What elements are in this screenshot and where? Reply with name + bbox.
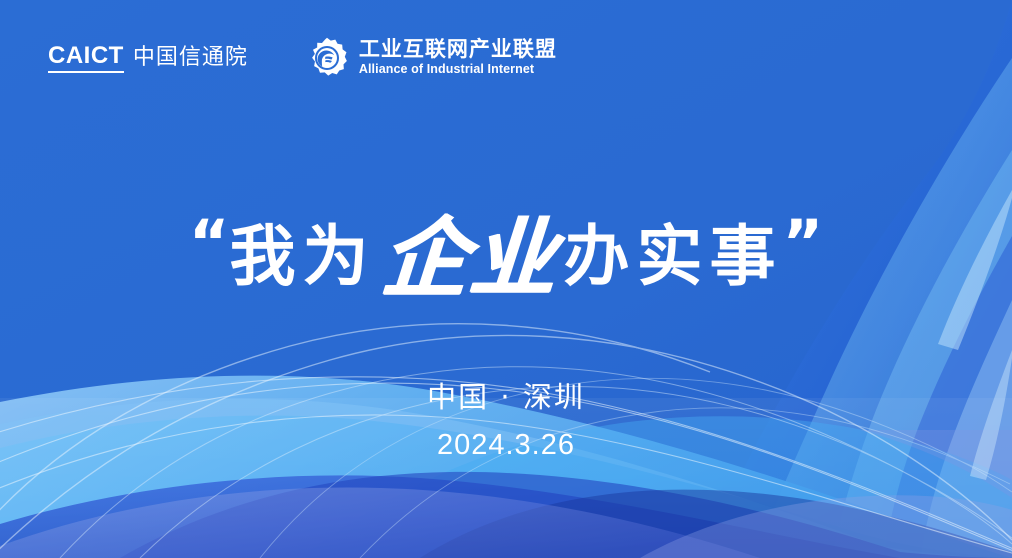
headline: “ 我为 企业 办实事 ” — [0, 214, 1012, 300]
logo-alliance-of-industrial-internet: 工业互联网产业联盟 Alliance of Industrial Interne… — [305, 36, 557, 80]
caict-underline-icon — [48, 71, 124, 73]
event-location: 中国 · 深圳 — [0, 378, 1012, 417]
headline-open-quote: “ — [189, 212, 230, 274]
headline-plain-right: 办实事 — [564, 224, 783, 290]
caict-acronym: CAICT — [48, 44, 124, 68]
event-poster: CAICT 中国信通院 工业互联网产业联盟 Alliance of Indust… — [0, 0, 1012, 558]
alliance-chinese-name: 工业互联网产业联盟 — [359, 39, 557, 61]
headline-close-quote: ” — [783, 212, 824, 274]
logo-bar: CAICT 中国信通院 工业互联网产业联盟 Alliance of Indust… — [48, 36, 557, 80]
subtitle-block: 中国 · 深圳 2024.3.26 — [0, 378, 1012, 465]
caict-chinese-name: 中国信通院 — [133, 46, 248, 73]
logo-divider — [276, 41, 277, 75]
headline-plain-left: 我为 — [230, 224, 376, 290]
alliance-english-name: Alliance of Industrial Internet — [359, 63, 557, 76]
alliance-text-block: 工业互联网产业联盟 Alliance of Industrial Interne… — [359, 39, 557, 76]
event-date: 2024.3.26 — [0, 427, 1012, 465]
gear-icon — [305, 36, 349, 80]
logo-caict: CAICT 中国信通院 — [48, 44, 248, 73]
headline-brush-text: 企业 — [378, 216, 560, 302]
caict-wordmark: CAICT — [48, 44, 124, 73]
